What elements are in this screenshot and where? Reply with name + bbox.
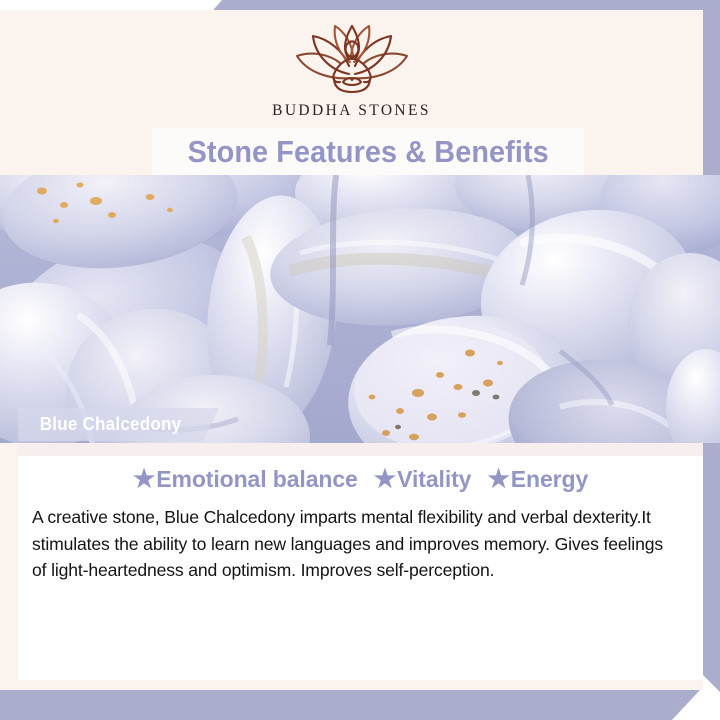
headline-banner: Stone Features & Benefits — [152, 128, 584, 175]
benefit-item: ★Emotional balance — [133, 466, 358, 493]
stone-photo-graphic — [0, 175, 720, 443]
page-title: Stone Features & Benefits — [187, 134, 548, 170]
stone-photo: Blue Chalcedony — [0, 175, 720, 443]
infographic-page: BUDDHA STONES Stone Features & Benefits — [0, 0, 720, 720]
star-icon: ★ — [133, 465, 155, 493]
benefit-label: Emotional balance — [156, 466, 358, 492]
benefit-label: Vitality — [397, 466, 471, 492]
benefits-row: ★Emotional balance ★Vitality ★Energy — [18, 466, 703, 493]
content-panel: ★Emotional balance ★Vitality ★Energy A c… — [18, 456, 703, 680]
star-icon: ★ — [374, 465, 396, 493]
brand-name: BUDDHA STONES — [0, 102, 703, 120]
brand-logo-block: BUDDHA STONES — [0, 18, 703, 120]
benefit-item: ★Vitality — [374, 466, 472, 493]
benefit-item: ★Energy — [487, 466, 588, 493]
benefit-label: Energy — [511, 466, 588, 492]
decorative-bottom-bar — [0, 690, 700, 720]
separator-band — [18, 443, 703, 456]
stone-description: A creative stone, Blue Chalcedony impart… — [32, 504, 677, 584]
star-icon: ★ — [487, 465, 509, 493]
lotus-meditation-icon — [277, 18, 427, 100]
stone-name: Blue Chalcedony — [40, 414, 182, 435]
stone-name-badge: Blue Chalcedony — [18, 408, 219, 441]
